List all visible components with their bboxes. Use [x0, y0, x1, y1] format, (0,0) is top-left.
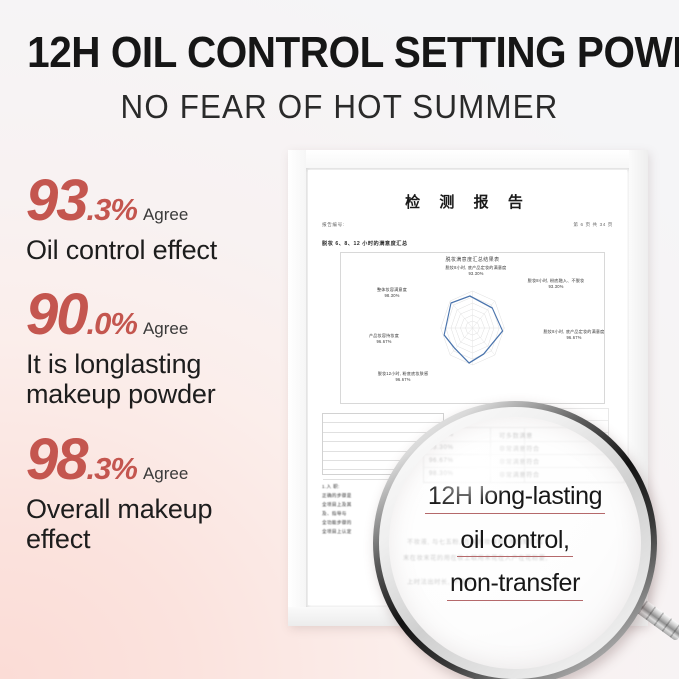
- stat-description-line1: Overall makeup: [26, 494, 212, 524]
- stat-item: 90.0%Agree It is longlasting makeup powd…: [26, 286, 291, 409]
- radar-label-value: 98.30%: [384, 293, 399, 298]
- stat-decimal: .0%: [87, 306, 137, 341]
- frame-edge-left: [288, 150, 306, 626]
- stat-description: It is longlasting makeup powder: [26, 349, 291, 409]
- poster-canvas: 12H OIL CONTROL SETTING POWDER NO FEAR O…: [0, 0, 679, 679]
- radar-axis-label: 脱妆8小时, 底产品定妆的满意度 96.67%: [537, 329, 611, 340]
- stat-agree-label: Agree: [143, 464, 188, 483]
- stat-item: 93.3%Agree Oil control effect: [26, 172, 291, 265]
- radar-label-value: 93.30%: [468, 271, 483, 276]
- radar-label-text: 脱妆8小时, 底产品定妆的满意度: [544, 329, 605, 334]
- stat-value-line: 90.0%Agree: [26, 286, 291, 344]
- radar-label-text: 产品妆容持妆度: [369, 333, 399, 338]
- radar-axis-label: 脱妆8小时, 底产品定妆的满意度 93.30%: [437, 265, 515, 276]
- stat-decimal: .3%: [87, 192, 137, 227]
- radar-plot-area: 脱妆8小时, 底产品定妆的满意度 93.30% 脱妆8小时, 粉底融入、不脱妆 …: [341, 253, 604, 403]
- frame-edge-top: [288, 150, 648, 168]
- radar-label-text: 脱妆8小时, 粉底融入、不脱妆: [528, 278, 585, 283]
- radar-label-text: 脱妆12小时, 粉底底妆肤感: [378, 371, 429, 376]
- stat-value-line: 93.3%Agree: [26, 172, 291, 230]
- radar-series-polygon: [444, 296, 502, 363]
- stat-value: 93: [26, 168, 87, 233]
- radar-axis-label: 脱妆8小时, 粉底融入、不脱妆 93.30%: [519, 278, 593, 289]
- stat-decimal: .3%: [87, 451, 137, 486]
- page-title: 12H OIL CONTROL SETTING POWDER: [27, 28, 652, 78]
- stat-description: Overall makeup effect: [26, 494, 291, 554]
- stat-value: 98: [26, 427, 87, 492]
- document-meta-right: 第 6 页 共 34 页: [573, 222, 613, 228]
- stat-description-line1: It is longlasting: [26, 349, 201, 379]
- ghost-value: 98.30%: [429, 470, 454, 477]
- stat-value-line: 98.3%Agree: [26, 431, 291, 489]
- magnifier-callout-text: 12H long-lasting oil control, non-transf…: [389, 483, 641, 614]
- radar-label-text: 脱妆8小时, 底产品定妆的满意度: [446, 265, 507, 270]
- radar-label-value: 96.67%: [566, 335, 581, 340]
- callout-line-1: 12H long-lasting: [425, 483, 605, 514]
- document-title: 检 测 报 告: [308, 191, 627, 212]
- document-subheading: 脱妆 6、8、12 小时的满意度汇总: [322, 240, 408, 247]
- stats-column: 93.3%Agree Oil control effect 90.0%Agree…: [26, 172, 291, 575]
- document-meta: 报告编号: 第 6 页 共 34 页: [322, 222, 613, 228]
- radar-label-value: 96.67%: [376, 339, 391, 344]
- ghost-value: 96.67%: [429, 431, 454, 438]
- stat-agree-label: Agree: [143, 319, 188, 338]
- document-meta-left: 报告编号:: [322, 222, 345, 228]
- ghost-value: 93.30%: [429, 444, 454, 451]
- radar-label-value: 93.30%: [548, 284, 563, 289]
- radar-chart: 脱妆满意度汇总结果表: [340, 252, 605, 404]
- stat-description: Oil control effect: [26, 235, 291, 265]
- radar-axis-label: 整体妆容满意度 98.30%: [357, 287, 427, 298]
- ghost-label: 可多数满意: [499, 431, 533, 440]
- ghost-label: 非常满意符合: [499, 444, 540, 453]
- magnifier-lens: 96.67% 可多数满意 93.30% 非常满意符合 96.67% 非常满意符合…: [389, 417, 641, 669]
- stat-agree-label: Agree: [143, 205, 188, 224]
- ghost-label: 非常满意符合: [499, 457, 540, 466]
- radar-label-text: 整体妆容满意度: [377, 287, 407, 292]
- radar-label-value: 96.67%: [395, 377, 410, 382]
- stat-description-line1: Oil control effect: [26, 235, 217, 265]
- stat-item: 98.3%Agree Overall makeup effect: [26, 431, 291, 554]
- stat-value: 90: [26, 282, 87, 347]
- callout-line-3: non-transfer: [447, 570, 583, 601]
- callout-line-2: oil control,: [457, 527, 572, 558]
- stat-description-line2: makeup powder: [26, 379, 216, 409]
- page-subtitle: NO FEAR OF HOT SUMMER: [17, 88, 662, 126]
- magnifier: 96.67% 可多数满意 93.30% 非常满意符合 96.67% 非常满意符合…: [373, 401, 657, 679]
- radar-axis-label: 产品妆容持妆度 96.67%: [349, 333, 419, 344]
- stat-description-line2: effect: [26, 524, 90, 554]
- magnifier-rim: 96.67% 可多数满意 93.30% 非常满意符合 96.67% 非常满意符合…: [373, 401, 657, 679]
- radar-axis-label: 脱妆12小时, 粉底底妆肤感 96.67%: [363, 371, 443, 382]
- radar-axes: [441, 291, 505, 365]
- ghost-label: 非常满意符合: [499, 470, 540, 479]
- magnifier-inner-rim: 96.67% 可多数满意 93.30% 非常满意符合 96.67% 非常满意符合…: [379, 407, 651, 679]
- ghost-value: 96.67%: [429, 457, 454, 464]
